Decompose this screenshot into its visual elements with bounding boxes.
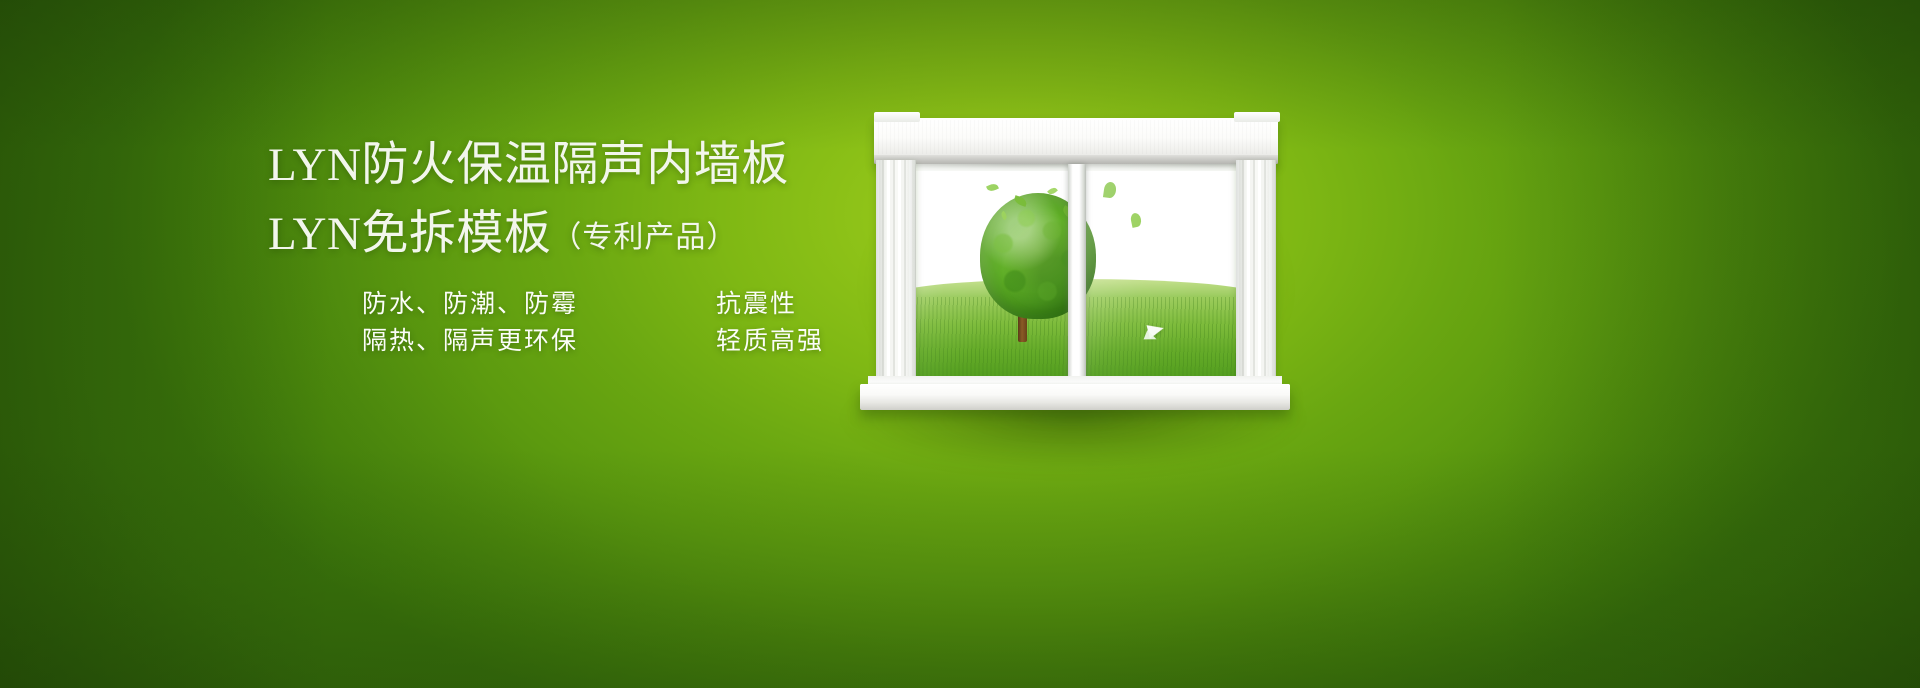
vertical-blind-left <box>876 160 916 392</box>
headline-block: LYN防火保温隔声内墙板 LYN免拆模板（专利产品） <box>268 136 868 264</box>
curtain-rail-left <box>874 112 920 122</box>
feature-item: 隔热、隔声更环保 <box>362 323 716 360</box>
window-illustration <box>852 118 1296 413</box>
tree-canopy <box>980 193 1096 319</box>
window-lintel <box>874 118 1278 164</box>
lintel-texture <box>878 120 1274 154</box>
curtain-rail-right <box>1234 112 1280 122</box>
banner-stage: LYN防火保温隔声内墙板 LYN免拆模板（专利产品） 防水、防潮、防霉 隔热、隔… <box>0 0 1920 688</box>
headline-line-2-main: LYN免拆模板 <box>268 208 551 260</box>
grass-field <box>904 297 1248 386</box>
window-sill <box>860 384 1290 410</box>
feature-column-left: 防水、防潮、防霉 隔热、隔声更环保 <box>362 286 716 360</box>
window-glass-opening <box>904 164 1248 386</box>
vertical-blind-right <box>1236 160 1276 392</box>
headline-line-1: LYN防火保温隔声内墙板 <box>268 136 868 195</box>
feature-list: 防水、防潮、防霉 隔热、隔声更环保 抗震性 轻质高强 <box>362 286 906 360</box>
headline-patent-note: （专利产品） <box>551 221 737 254</box>
window-floor-shadow <box>838 394 1308 514</box>
headline-line-2: LYN免拆模板（专利产品） <box>268 205 868 264</box>
feature-item: 防水、防潮、防霉 <box>362 286 716 323</box>
